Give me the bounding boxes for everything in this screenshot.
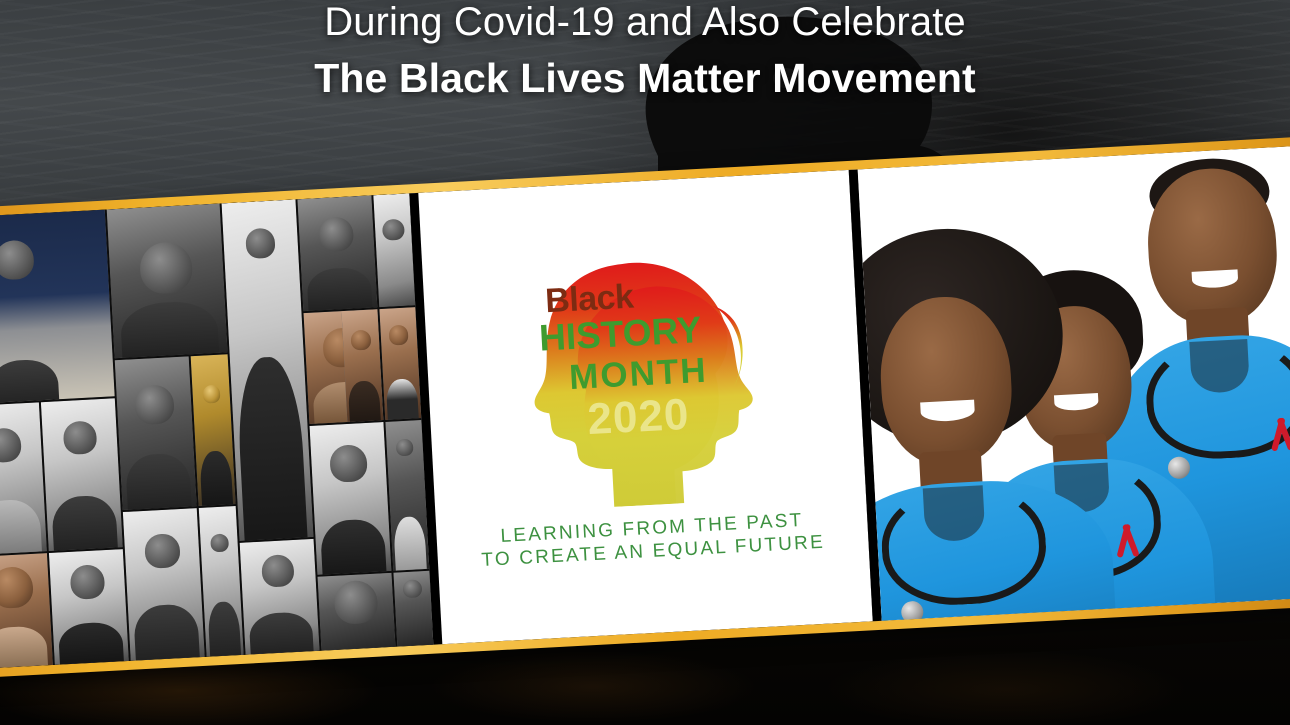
slide-canvas: During Covid-19 and Also Celebrate The B…: [0, 0, 1290, 725]
collage-tile-muhammad-ali: [0, 210, 115, 405]
collage-tile-jackie-robinson: [115, 357, 197, 510]
svg-text:HISTORY: HISTORY: [538, 309, 703, 359]
person-nurse-left: [858, 232, 1098, 621]
collage-tile-martin-luther-king-jr: [297, 195, 377, 310]
collage-tile-oprah-winfrey: [341, 309, 383, 422]
collage-tile-sojourner-truth: [123, 508, 205, 661]
black-history-month-2020-logo: Black HISTORY MONTH 2020 LEARNING FROM T…: [418, 170, 872, 644]
headline-line-2: The Black Lives Matter Movement: [0, 50, 1290, 106]
headline: During Covid-19 and Also Celebrate The B…: [0, 0, 1290, 106]
collage-tile-malcolm-x-portrait: [317, 573, 395, 650]
collage-tile-george-washington-carver: [0, 402, 47, 555]
awareness-ribbon-icon: [1119, 523, 1137, 558]
logo-tagline: LEARNING FROM THE PAST TO CREATE AN EQUA…: [480, 508, 826, 572]
collage-tile-sidney-poitier-oscar: [191, 355, 235, 506]
head-silhouette-icon: Black HISTORY MONTH 2020: [513, 251, 776, 512]
collage-tile-rosa-parks: [199, 506, 243, 657]
svg-text:2020: 2020: [586, 390, 690, 444]
healthcare-workers-panel: [849, 145, 1290, 621]
logo-panel: Black HISTORY MONTH 2020 LEARNING FROM T…: [409, 170, 872, 645]
collage-tile-josephine-baker: [239, 539, 319, 654]
headline-line-1: During Covid-19 and Also Celebrate: [0, 0, 1290, 50]
collage-tile-frederick-douglass: [309, 422, 391, 575]
healthcare-workers-photo: [858, 145, 1290, 621]
collage-tile-w-e-b-du-bois: [49, 550, 129, 665]
collage-tile-louis-armstrong-trumpet: [393, 571, 433, 646]
collage-panel: [0, 193, 433, 669]
collage-tile-mahalia-jackson: [107, 203, 227, 358]
collage-tile-booker-t-washington: [41, 398, 123, 551]
black-history-figures-collage: [0, 193, 433, 669]
collage-tile-barack-obama: [379, 307, 421, 420]
panel-row: Black HISTORY MONTH 2020 LEARNING FROM T…: [0, 145, 1290, 669]
awareness-ribbon-icon: [1273, 417, 1290, 452]
collage-tile-malcolm-x-pointing: [373, 193, 415, 306]
tilted-panel-band: Black HISTORY MONTH 2020 LEARNING FROM T…: [0, 136, 1290, 679]
collage-tile-nelson-mandela: [0, 554, 53, 669]
